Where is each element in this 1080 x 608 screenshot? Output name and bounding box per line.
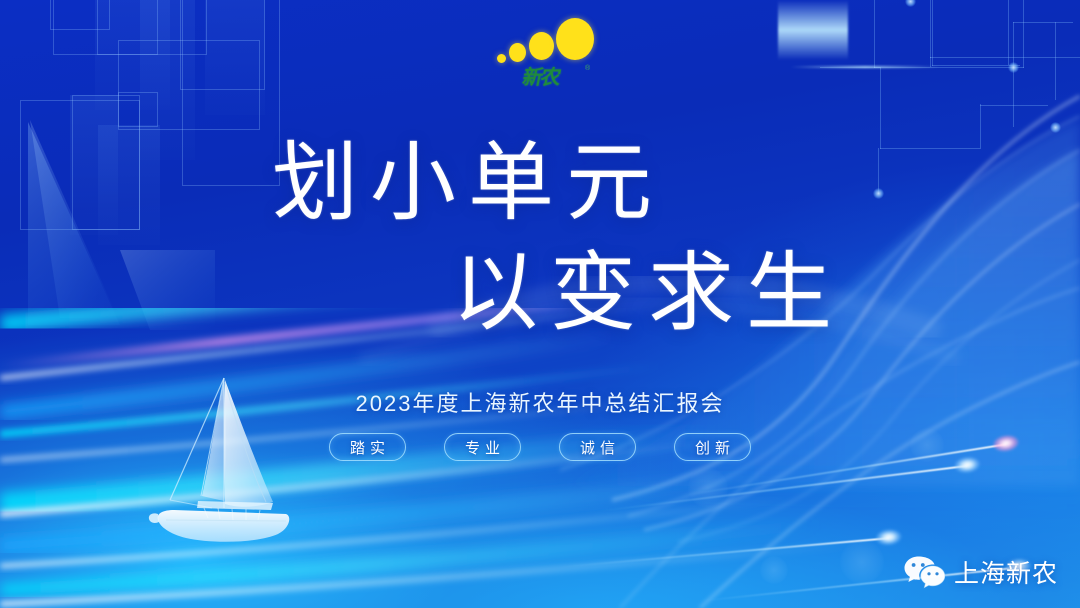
headline-line-1: 划小单元 bbox=[272, 140, 664, 228]
value-tags: 踏实 专业 诚信 创新 bbox=[0, 433, 1080, 461]
logo-dot-icon bbox=[509, 43, 526, 62]
wechat-icon bbox=[903, 555, 945, 589]
wechat-eye bbox=[912, 563, 916, 567]
wechat-eye bbox=[927, 572, 930, 575]
wechat-eye bbox=[935, 572, 938, 575]
headline-line-2: 以变求生 bbox=[452, 250, 844, 338]
boat-hull bbox=[158, 510, 290, 542]
bokeh-dot bbox=[688, 468, 728, 508]
logo-wordmark: 新农 bbox=[521, 66, 588, 88]
wechat-footer: 上海新农 bbox=[903, 554, 1058, 590]
wechat-eye bbox=[921, 563, 925, 567]
logo-registered-mark: ® bbox=[585, 65, 590, 72]
value-tag-3: 诚信 bbox=[559, 433, 636, 461]
logo-dot-icon bbox=[529, 32, 554, 60]
logo-dot-icon bbox=[497, 54, 506, 63]
value-tag-1: 踏实 bbox=[329, 433, 406, 461]
value-tag-4: 创新 bbox=[674, 433, 751, 461]
boat-bow bbox=[149, 513, 159, 523]
poster-canvas: 新农 ® 划小单元 以变求生 2023年度上海新农年中总结汇报会 踏实 专业 诚… bbox=[0, 0, 1080, 608]
wechat-bubble-front bbox=[921, 566, 945, 588]
bokeh-dot bbox=[760, 556, 788, 584]
bokeh-dot bbox=[840, 540, 884, 584]
value-tag-2: 专业 bbox=[444, 433, 521, 461]
logo-dot-icon bbox=[556, 18, 594, 60]
brand-logo: 新农 ® bbox=[497, 18, 597, 98]
event-subtitle: 2023年度上海新农年中总结汇报会 bbox=[0, 386, 1080, 418]
wechat-account-name: 上海新农 bbox=[954, 554, 1058, 590]
